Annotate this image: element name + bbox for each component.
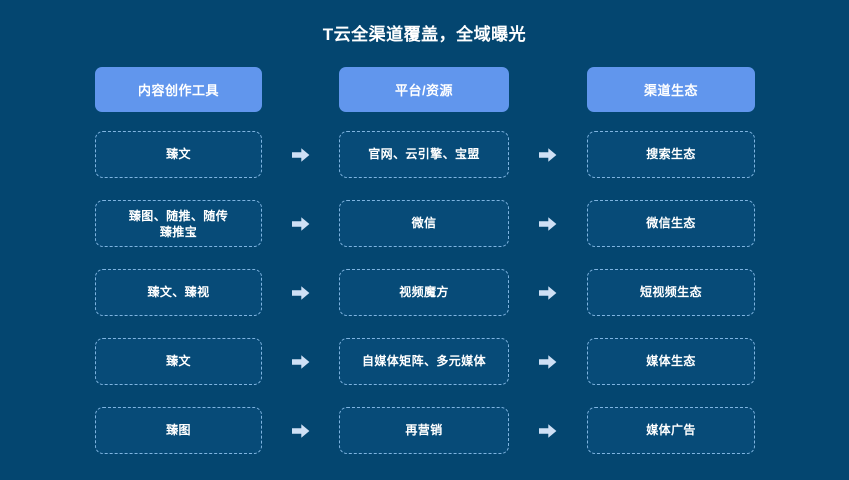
platform-cell: 官网、云引擎、宝盟	[339, 131, 509, 178]
arrow-cell-platform-to-channel	[509, 200, 587, 247]
header-cell-channel: 渠道生态	[587, 67, 755, 112]
header-arrow-spacer-2	[509, 67, 587, 112]
content-tool-cell: 臻图	[95, 407, 262, 454]
diagram-header-row: 内容创作工具 平台/资源 渠道生态	[95, 67, 755, 112]
header-box-content-tools[interactable]: 内容创作工具	[95, 67, 262, 112]
platform-cell: 视频魔方	[339, 269, 509, 316]
diagram-row: 臻图再营销媒体广告	[95, 407, 755, 454]
channel-cell: 媒体生态	[587, 338, 755, 385]
header-arrow-spacer-1	[262, 67, 339, 112]
diagram-rows: 臻文官网、云引擎、宝盟搜索生态臻图、随推、随传臻推宝微信微信生态臻文、臻视视频魔…	[95, 131, 755, 454]
arrow-right-icon	[292, 216, 310, 232]
arrow-cell-platform-to-channel	[509, 407, 587, 454]
arrow-right-icon	[292, 147, 310, 163]
platform-box[interactable]: 微信	[339, 200, 509, 247]
platform-box[interactable]: 再营销	[339, 407, 509, 454]
channel-cell: 媒体广告	[587, 407, 755, 454]
arrow-right-icon	[539, 147, 557, 163]
diagram-row: 臻文、臻视视频魔方短视频生态	[95, 269, 755, 316]
channel-cell: 短视频生态	[587, 269, 755, 316]
channel-box[interactable]: 搜索生态	[587, 131, 755, 178]
content-tool-cell: 臻文	[95, 338, 262, 385]
content-tool-cell: 臻图、随推、随传臻推宝	[95, 200, 262, 247]
arrow-right-icon	[539, 354, 557, 370]
arrow-spacer	[292, 82, 310, 98]
arrow-right-icon	[539, 423, 557, 439]
content-tool-box[interactable]: 臻文	[95, 338, 262, 385]
header-cell-platform: 平台/资源	[339, 67, 509, 112]
page-title: T云全渠道覆盖，全域曝光	[0, 24, 849, 46]
arrow-cell-platform-to-channel	[509, 269, 587, 316]
content-tool-cell: 臻文	[95, 131, 262, 178]
arrow-cell-tool-to-platform	[262, 200, 339, 247]
arrow-cell-platform-to-channel	[509, 338, 587, 385]
header-box-channel[interactable]: 渠道生态	[587, 67, 755, 112]
channel-box[interactable]: 媒体广告	[587, 407, 755, 454]
arrow-right-icon	[292, 423, 310, 439]
header-cell-content-tools: 内容创作工具	[95, 67, 262, 112]
arrow-right-icon	[292, 354, 310, 370]
platform-cell: 微信	[339, 200, 509, 247]
arrow-right-icon	[539, 216, 557, 232]
content-tool-box[interactable]: 臻文	[95, 131, 262, 178]
diagram-row: 臻文官网、云引擎、宝盟搜索生态	[95, 131, 755, 178]
content-tool-box[interactable]: 臻文、臻视	[95, 269, 262, 316]
arrow-cell-tool-to-platform	[262, 269, 339, 316]
platform-cell: 再营销	[339, 407, 509, 454]
channel-cell: 微信生态	[587, 200, 755, 247]
content-tool-box[interactable]: 臻图、随推、随传臻推宝	[95, 200, 262, 247]
arrow-spacer	[539, 82, 557, 98]
channel-box[interactable]: 微信生态	[587, 200, 755, 247]
content-tool-cell: 臻文、臻视	[95, 269, 262, 316]
platform-box[interactable]: 视频魔方	[339, 269, 509, 316]
arrow-cell-platform-to-channel	[509, 131, 587, 178]
content-tool-box[interactable]: 臻图	[95, 407, 262, 454]
arrow-cell-tool-to-platform	[262, 338, 339, 385]
arrow-right-icon	[292, 285, 310, 301]
platform-box[interactable]: 自媒体矩阵、多元媒体	[339, 338, 509, 385]
channel-coverage-diagram: 内容创作工具 平台/资源 渠道生态 臻文官网、云引擎、宝盟搜索生态臻图、随推、随…	[95, 67, 755, 454]
channel-box[interactable]: 媒体生态	[587, 338, 755, 385]
platform-cell: 自媒体矩阵、多元媒体	[339, 338, 509, 385]
arrow-right-icon	[539, 285, 557, 301]
header-box-platform[interactable]: 平台/资源	[339, 67, 509, 112]
arrow-cell-tool-to-platform	[262, 407, 339, 454]
channel-cell: 搜索生态	[587, 131, 755, 178]
channel-box[interactable]: 短视频生态	[587, 269, 755, 316]
arrow-cell-tool-to-platform	[262, 131, 339, 178]
platform-box[interactable]: 官网、云引擎、宝盟	[339, 131, 509, 178]
diagram-row: 臻文自媒体矩阵、多元媒体媒体生态	[95, 338, 755, 385]
diagram-row: 臻图、随推、随传臻推宝微信微信生态	[95, 200, 755, 247]
